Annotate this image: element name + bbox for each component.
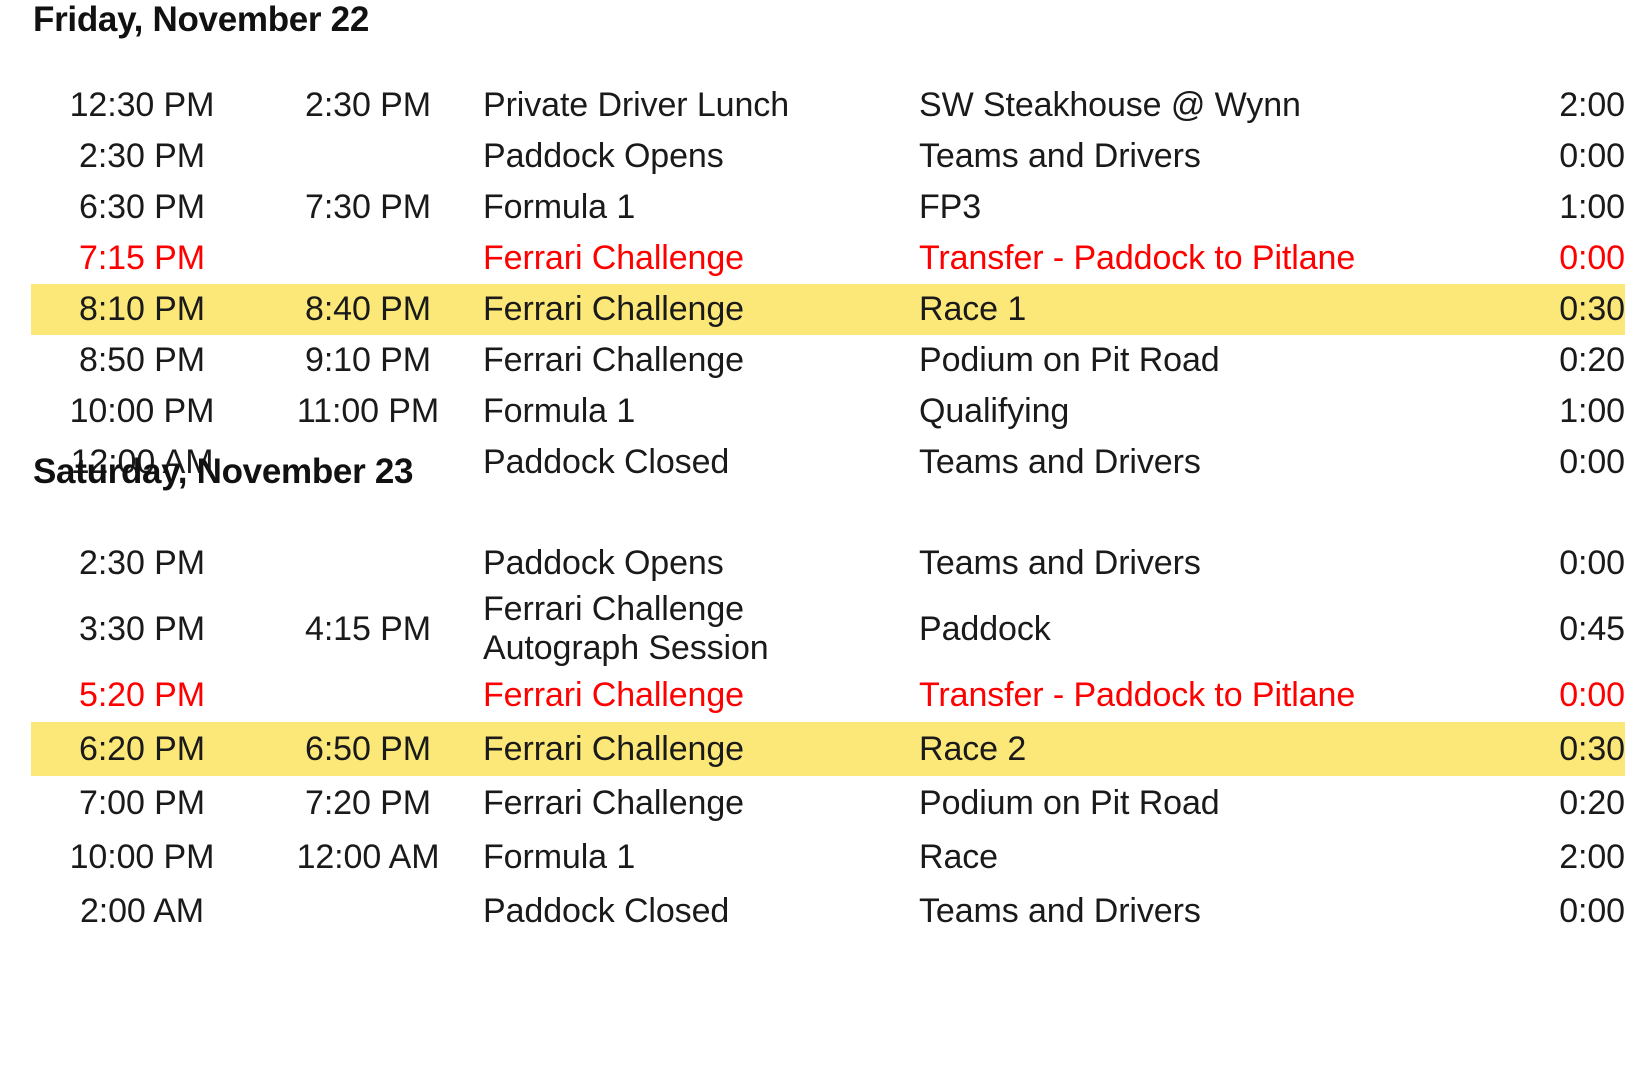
cell-session-title: Paddock Opens: [483, 536, 919, 590]
schedule-row: 6:30 PM7:30 PMFormula 1FP31:00: [31, 182, 1625, 233]
cell-start-time: 7:00 PM: [31, 776, 253, 830]
schedule-row: 2:30 PMPaddock OpensTeams and Drivers0:0…: [31, 131, 1625, 182]
cell-end-time: 8:40 PM: [253, 284, 483, 335]
cell-duration: 2:00: [1465, 830, 1625, 884]
schedule-row: 2:00 AMPaddock ClosedTeams and Drivers0:…: [31, 884, 1625, 938]
cell-session-detail: Teams and Drivers: [919, 536, 1465, 590]
cell-end-time: [253, 131, 483, 182]
cell-session-detail: Paddock: [919, 590, 1465, 668]
cell-session-detail: Podium on Pit Road: [919, 776, 1465, 830]
cell-session-detail: Race 1: [919, 284, 1465, 335]
cell-duration: 1:00: [1465, 386, 1625, 437]
day-title-saturday: Saturday, November 23: [33, 452, 1625, 492]
cell-duration: 0:20: [1465, 335, 1625, 386]
cell-start-time: 10:00 PM: [31, 830, 253, 884]
cell-session-title: Paddock Opens: [483, 131, 919, 182]
cell-session-title: Paddock Closed: [483, 884, 919, 938]
cell-end-time: 7:20 PM: [253, 776, 483, 830]
schedule-row: 3:30 PM4:15 PMFerrari Challenge Autograp…: [31, 590, 1625, 668]
cell-session-title: Formula 1: [483, 830, 919, 884]
day-block-friday: Friday, November 22 12:30 PM2:30 PMPriva…: [31, 0, 1625, 488]
schedule-table-saturday: 2:30 PMPaddock OpensTeams and Drivers0:0…: [31, 536, 1625, 938]
cell-start-time: 10:00 PM: [31, 386, 253, 437]
cell-duration: 0:00: [1465, 131, 1625, 182]
cell-session-title: Ferrari Challenge: [483, 722, 919, 776]
cell-duration: 0:20: [1465, 776, 1625, 830]
schedule-row: 8:10 PM8:40 PMFerrari ChallengeRace 10:3…: [31, 284, 1625, 335]
cell-end-time: 11:00 PM: [253, 386, 483, 437]
cell-duration: 0:00: [1465, 233, 1625, 284]
schedule-body-friday: 12:30 PM2:30 PMPrivate Driver LunchSW St…: [31, 80, 1625, 488]
cell-duration: 1:00: [1465, 182, 1625, 233]
cell-session-title: Formula 1: [483, 182, 919, 233]
cell-session-title: Ferrari Challenge: [483, 335, 919, 386]
cell-start-time: 2:00 AM: [31, 884, 253, 938]
cell-end-time: [253, 233, 483, 284]
schedule-row: 12:30 PM2:30 PMPrivate Driver LunchSW St…: [31, 80, 1625, 131]
cell-end-time: [253, 536, 483, 590]
cell-session-detail: SW Steakhouse @ Wynn: [919, 80, 1465, 131]
schedule-body-saturday: 2:30 PMPaddock OpensTeams and Drivers0:0…: [31, 536, 1625, 938]
cell-end-time: 12:00 AM: [253, 830, 483, 884]
cell-session-detail: Transfer - Paddock to Pitlane: [919, 668, 1465, 722]
schedule-row: 7:15 PMFerrari ChallengeTransfer - Paddo…: [31, 233, 1625, 284]
cell-duration: 0:45: [1465, 590, 1625, 668]
cell-duration: 0:00: [1465, 668, 1625, 722]
cell-session-title: Ferrari Challenge Autograph Session: [483, 590, 919, 668]
cell-session-detail: Qualifying: [919, 386, 1465, 437]
cell-start-time: 7:15 PM: [31, 233, 253, 284]
cell-session-detail: Teams and Drivers: [919, 884, 1465, 938]
cell-end-time: 2:30 PM: [253, 80, 483, 131]
cell-duration: 0:30: [1465, 722, 1625, 776]
schedule-row: 10:00 PM11:00 PMFormula 1Qualifying1:00: [31, 386, 1625, 437]
schedule-row: 2:30 PMPaddock OpensTeams and Drivers0:0…: [31, 536, 1625, 590]
cell-duration: 0:00: [1465, 536, 1625, 590]
cell-start-time: 8:50 PM: [31, 335, 253, 386]
cell-session-detail: Transfer - Paddock to Pitlane: [919, 233, 1465, 284]
cell-session-detail: Teams and Drivers: [919, 131, 1465, 182]
schedule-row: 7:00 PM7:20 PMFerrari ChallengePodium on…: [31, 776, 1625, 830]
cell-session-detail: FP3: [919, 182, 1465, 233]
schedule-row: 10:00 PM12:00 AMFormula 1Race2:00: [31, 830, 1625, 884]
cell-start-time: 3:30 PM: [31, 590, 253, 668]
schedule-row: 8:50 PM9:10 PMFerrari ChallengePodium on…: [31, 335, 1625, 386]
cell-session-detail: Race 2: [919, 722, 1465, 776]
cell-start-time: 5:20 PM: [31, 668, 253, 722]
schedule-row: 6:20 PM6:50 PMFerrari ChallengeRace 20:3…: [31, 722, 1625, 776]
cell-end-time: 4:15 PM: [253, 590, 483, 668]
cell-start-time: 6:20 PM: [31, 722, 253, 776]
cell-end-time: 6:50 PM: [253, 722, 483, 776]
cell-session-title: Formula 1: [483, 386, 919, 437]
cell-start-time: 2:30 PM: [31, 536, 253, 590]
cell-end-time: [253, 668, 483, 722]
cell-duration: 2:00: [1465, 80, 1625, 131]
cell-start-time: 6:30 PM: [31, 182, 253, 233]
cell-end-time: [253, 884, 483, 938]
cell-start-time: 2:30 PM: [31, 131, 253, 182]
cell-session-title: Private Driver Lunch: [483, 80, 919, 131]
cell-end-time: 7:30 PM: [253, 182, 483, 233]
cell-duration: 0:30: [1465, 284, 1625, 335]
cell-session-title: Ferrari Challenge: [483, 284, 919, 335]
schedule-table-friday: 12:30 PM2:30 PMPrivate Driver LunchSW St…: [31, 80, 1625, 488]
schedule-row: 5:20 PMFerrari ChallengeTransfer - Paddo…: [31, 668, 1625, 722]
cell-duration: 0:00: [1465, 884, 1625, 938]
cell-session-title: Ferrari Challenge: [483, 776, 919, 830]
cell-end-time: 9:10 PM: [253, 335, 483, 386]
schedule-page: Friday, November 22 12:30 PM2:30 PMPriva…: [0, 0, 1644, 1086]
cell-start-time: 12:30 PM: [31, 80, 253, 131]
day-title-friday: Friday, November 22: [33, 0, 1625, 40]
cell-session-title: Ferrari Challenge: [483, 233, 919, 284]
cell-session-title: Ferrari Challenge: [483, 668, 919, 722]
day-block-saturday: Saturday, November 23 2:30 PMPaddock Ope…: [31, 452, 1625, 938]
cell-session-detail: Podium on Pit Road: [919, 335, 1465, 386]
cell-start-time: 8:10 PM: [31, 284, 253, 335]
cell-session-detail: Race: [919, 830, 1465, 884]
